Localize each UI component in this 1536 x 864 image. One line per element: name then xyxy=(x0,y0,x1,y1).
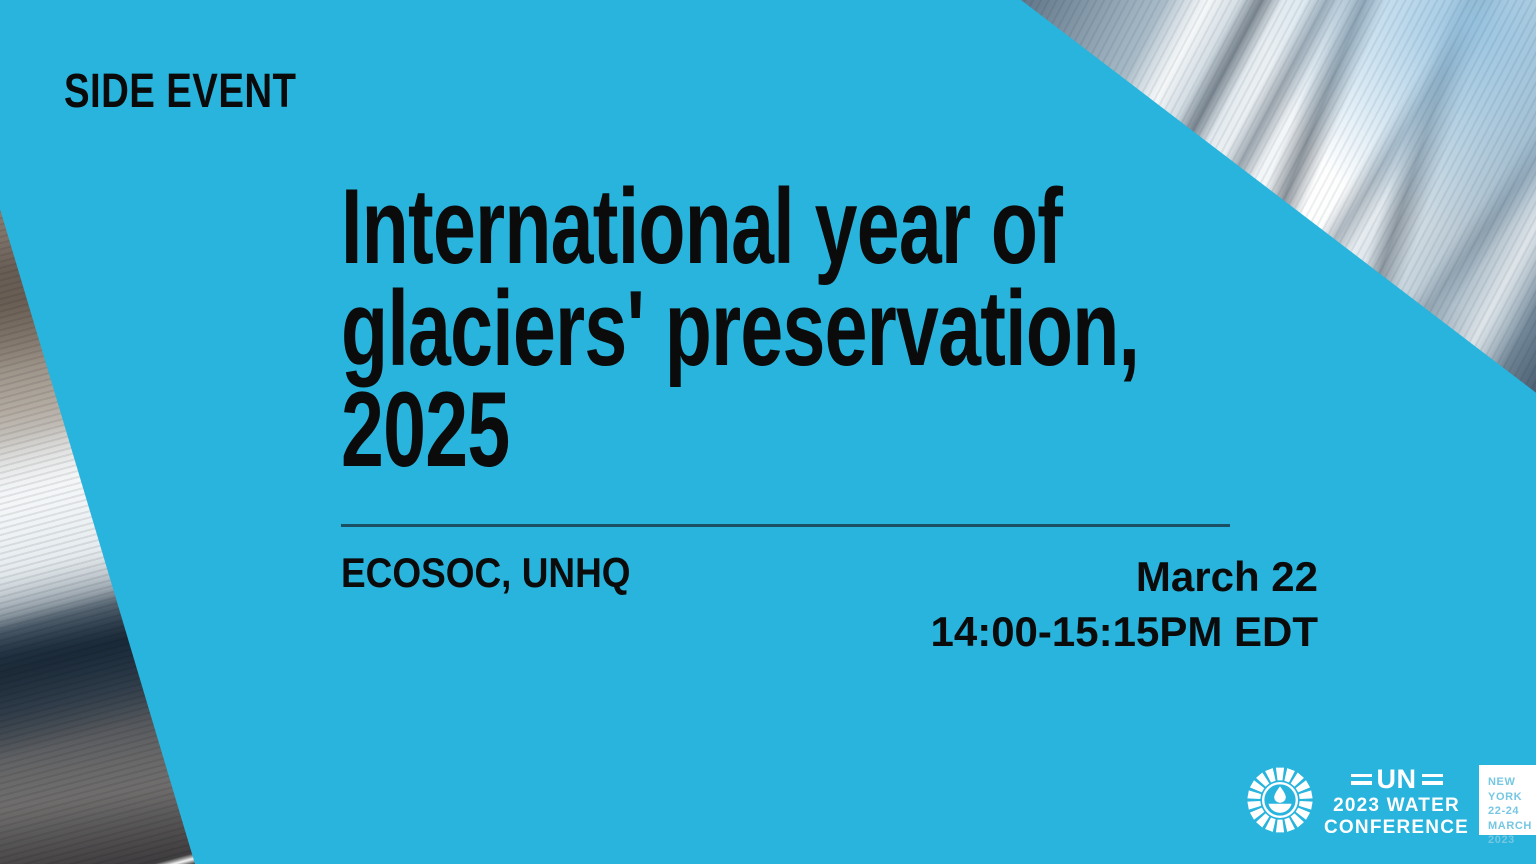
un-water-conference-logo: UN 2023 WATER CONFERENCE NEW YORK 22-24 … xyxy=(1246,762,1522,838)
event-banner: SIDE EVENT International year of glacier… xyxy=(0,0,1536,864)
logo-box-month: MARCH xyxy=(1488,819,1536,834)
logo-line-1: 2023 WATER xyxy=(1324,796,1469,815)
event-time: 14:00-15:15PM EDT xyxy=(931,604,1319,659)
page-title-line-1: International year of xyxy=(341,176,1061,278)
page-title-line-3: 2025 xyxy=(341,379,1061,481)
un-water-conference-wordmark: UN 2023 WATER CONFERENCE xyxy=(1324,764,1469,837)
un-row: UN xyxy=(1324,766,1469,793)
page-title: International year of glaciers' preserva… xyxy=(341,176,1061,481)
kicker-label: SIDE EVENT xyxy=(64,68,296,116)
divider-rule xyxy=(341,524,1230,527)
un-word: UN xyxy=(1377,766,1417,793)
dash-right-icon xyxy=(1422,774,1443,785)
glacier-valley-photo xyxy=(0,205,195,864)
un-water-droplet-sunburst-icon xyxy=(1246,766,1314,834)
dash-left-icon xyxy=(1351,774,1372,785)
datetime-block: March 22 14:00-15:15PM EDT xyxy=(931,549,1319,660)
logo-box-days: 22-24 xyxy=(1488,804,1536,819)
logo-line-2: CONFERENCE xyxy=(1324,818,1469,837)
event-date: March 22 xyxy=(931,549,1319,604)
logo-box-city: NEW YORK xyxy=(1488,775,1536,804)
logo-box-year: 2023 xyxy=(1488,833,1536,848)
glacier-valley-edge-highlight xyxy=(0,205,195,864)
venue-label: ECOSOC, UNHQ xyxy=(341,549,631,597)
logo-date-box: NEW YORK 22-24 MARCH 2023 xyxy=(1479,765,1536,835)
page-title-line-2: glaciers' preservation, xyxy=(341,278,1061,380)
